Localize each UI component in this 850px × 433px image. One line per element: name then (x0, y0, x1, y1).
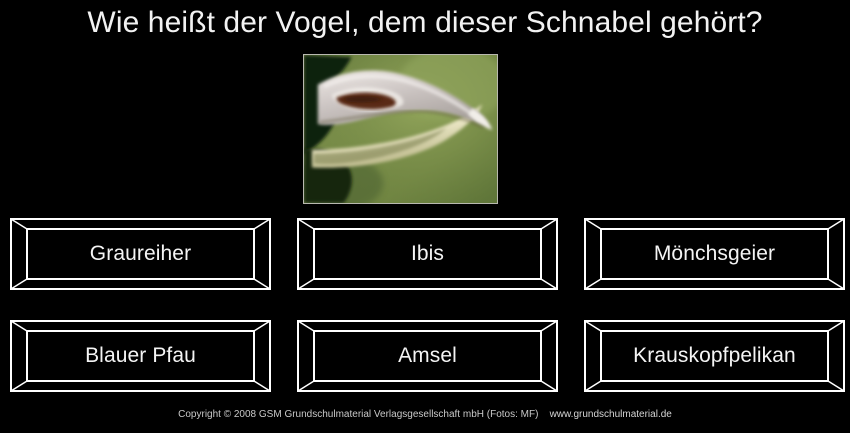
website-url[interactable]: www.grundschulmaterial.de (550, 409, 672, 420)
answer-label: Graureiher (10, 218, 271, 290)
answer-options: Graureiher Ibis Mönchsgeier (0, 216, 850, 396)
answer-button-2[interactable]: Mönchsgeier (584, 218, 845, 290)
answer-label: Mönchsgeier (584, 218, 845, 290)
answer-button-0[interactable]: Graureiher (10, 218, 271, 290)
copyright-text: Copyright © 2008 GSM Grundschulmaterial … (178, 409, 538, 420)
answer-label: Amsel (297, 320, 558, 392)
bird-beak-illustration (304, 55, 497, 203)
answer-label: Ibis (297, 218, 558, 290)
answer-button-1[interactable]: Ibis (297, 218, 558, 290)
answer-button-5[interactable]: Krauskopfpelikan (584, 320, 845, 392)
question-title: Wie heißt der Vogel, dem dieser Schnabel… (0, 3, 850, 43)
answer-label: Krauskopfpelikan (584, 320, 845, 392)
copyright-footer: Copyright © 2008 GSM Grundschulmaterial … (0, 408, 850, 422)
answer-label: Blauer Pfau (10, 320, 271, 392)
answer-button-4[interactable]: Amsel (297, 320, 558, 392)
beak-photo (303, 54, 498, 204)
quiz-slide: { "title": "Wie heißt der Vogel, dem die… (0, 0, 850, 433)
answer-button-3[interactable]: Blauer Pfau (10, 320, 271, 392)
